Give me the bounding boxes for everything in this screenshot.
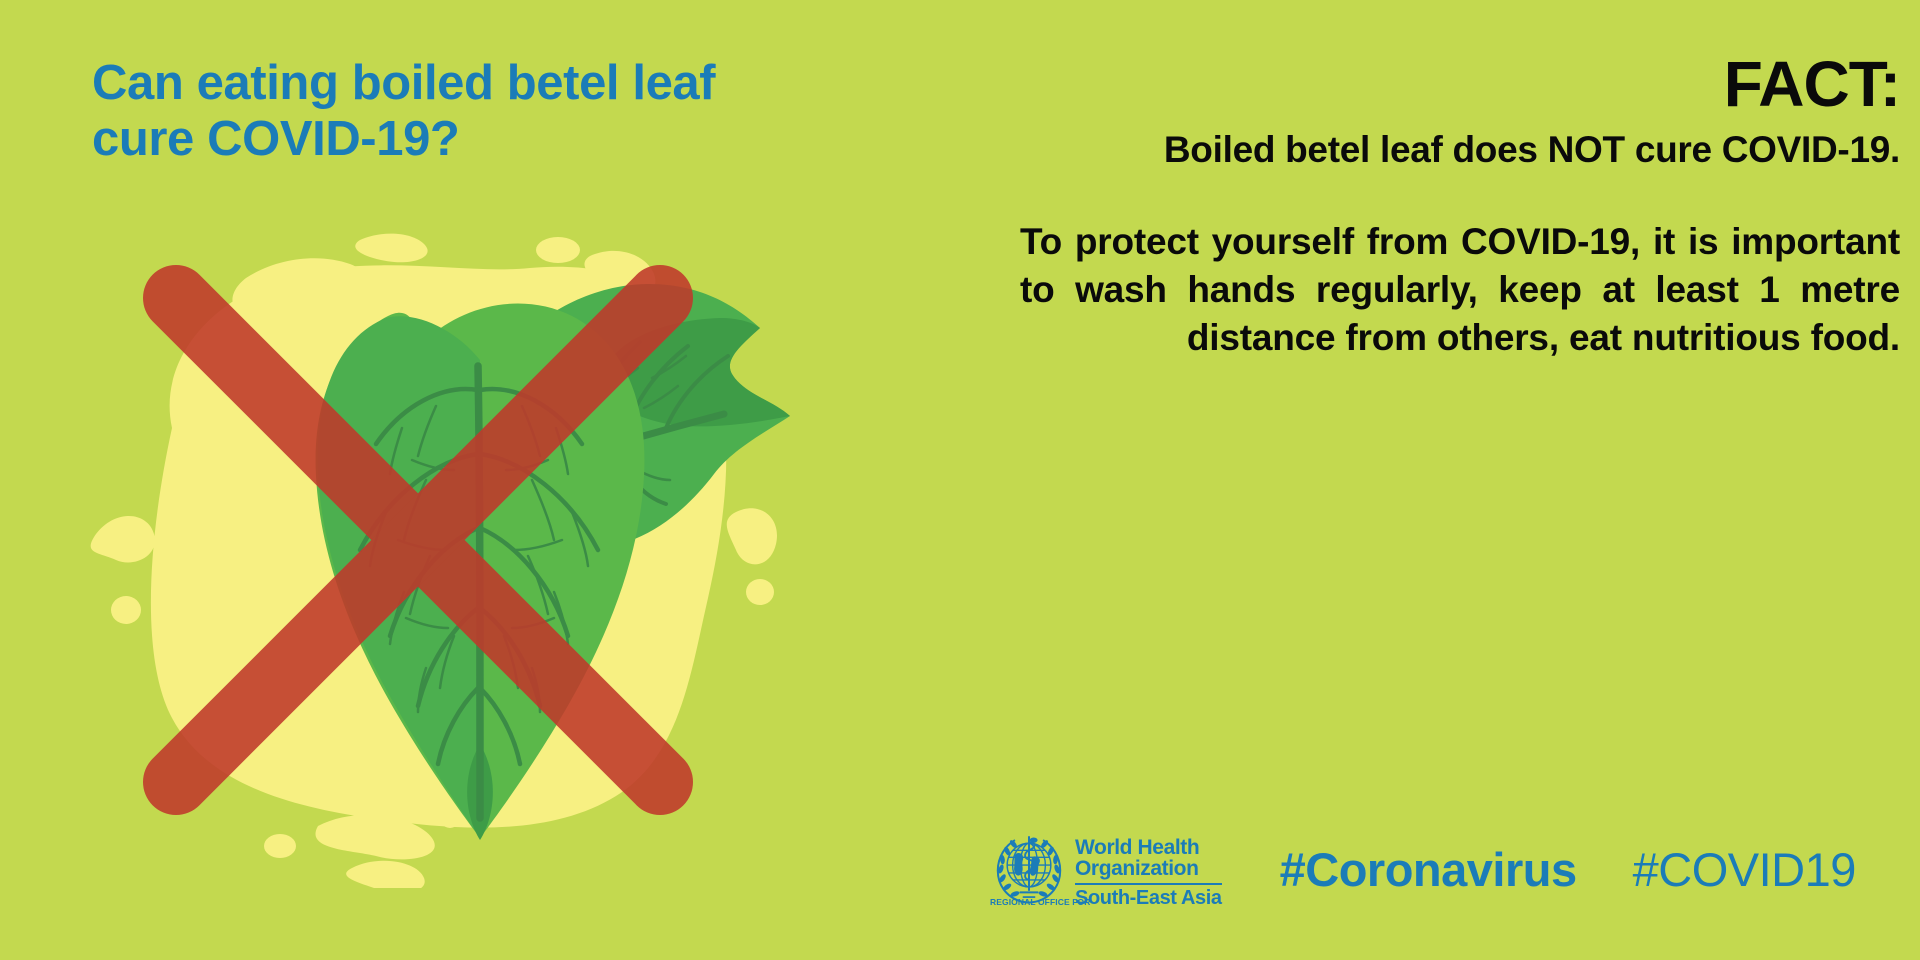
who-name-line1: World Health (1075, 837, 1222, 858)
fact-advice-paragraph: To protect yourself from COVID-19, it is… (1020, 218, 1900, 362)
fact-block: FACT: Boiled betel leaf does NOT cure CO… (1020, 52, 1900, 362)
page-title: Can eating boiled betel leaf cure COVID-… (92, 56, 812, 168)
who-regional-office-label: REGIONAL OFFICE FOR (990, 897, 1090, 907)
who-name-line2: Organization (1075, 858, 1222, 879)
who-region-label: South-East Asia (1075, 888, 1222, 908)
hashtag-group: #Coronavirus #COVID19 (1280, 842, 1856, 897)
hashtag-coronavirus[interactable]: #Coronavirus (1280, 842, 1577, 897)
who-wordmark: World Health Organization South-East Asi… (1075, 837, 1222, 908)
fact-statement: Boiled betel leaf does NOT cure COVID-19… (1020, 128, 1900, 172)
footer: World Health Organization South-East Asi… (990, 830, 1856, 908)
fact-label: FACT: (1020, 52, 1900, 116)
betel-leaf-illustration (60, 178, 800, 888)
poster-canvas: Can eating boiled betel leaf cure COVID-… (0, 0, 1920, 960)
hashtag-covid19[interactable]: #COVID19 (1633, 842, 1856, 897)
who-logo: World Health Organization South-East Asi… (990, 830, 1222, 908)
who-divider (1075, 883, 1222, 885)
